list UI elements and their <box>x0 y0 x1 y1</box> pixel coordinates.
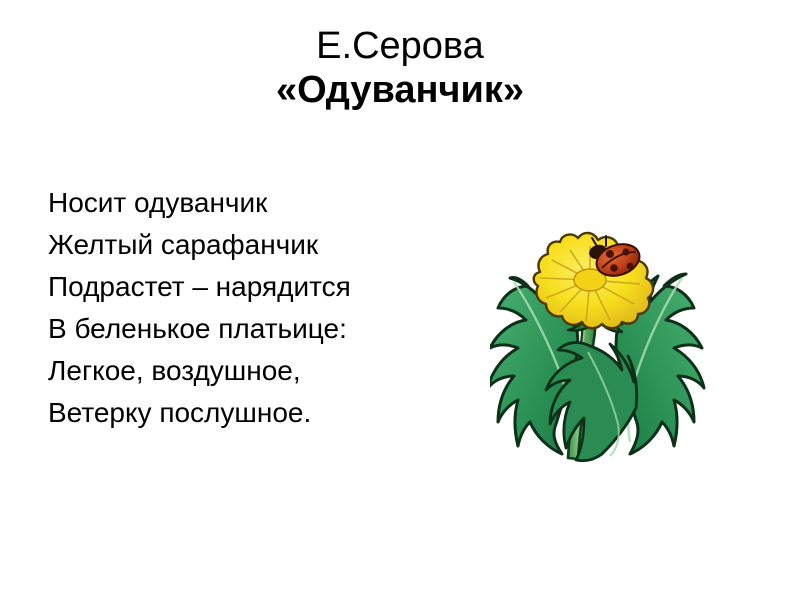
poem-line: Желтый сарафанчик <box>48 224 448 266</box>
dandelion-image <box>490 228 790 478</box>
poem-body: Носит одуванчик Желтый сарафанчик Подрас… <box>48 182 448 434</box>
title-author: Е.Серова <box>0 24 800 68</box>
title-poem-name: «Одуванчик» <box>0 68 800 112</box>
poem-line: Носит одуванчик <box>48 182 448 224</box>
slide-canvas: Е.Серова «Одуванчик» Носит одуванчик Жел… <box>0 0 800 600</box>
poem-line: Легкое, воздушное, <box>48 350 448 392</box>
dandelion-illustration <box>490 228 790 478</box>
poem-line: Подрастет – нарядится <box>48 266 448 308</box>
page-title: Е.Серова «Одуванчик» <box>0 24 800 112</box>
poem-line: Ветерку послушное. <box>48 392 448 434</box>
poem-line: В беленькое платьице: <box>48 308 448 350</box>
